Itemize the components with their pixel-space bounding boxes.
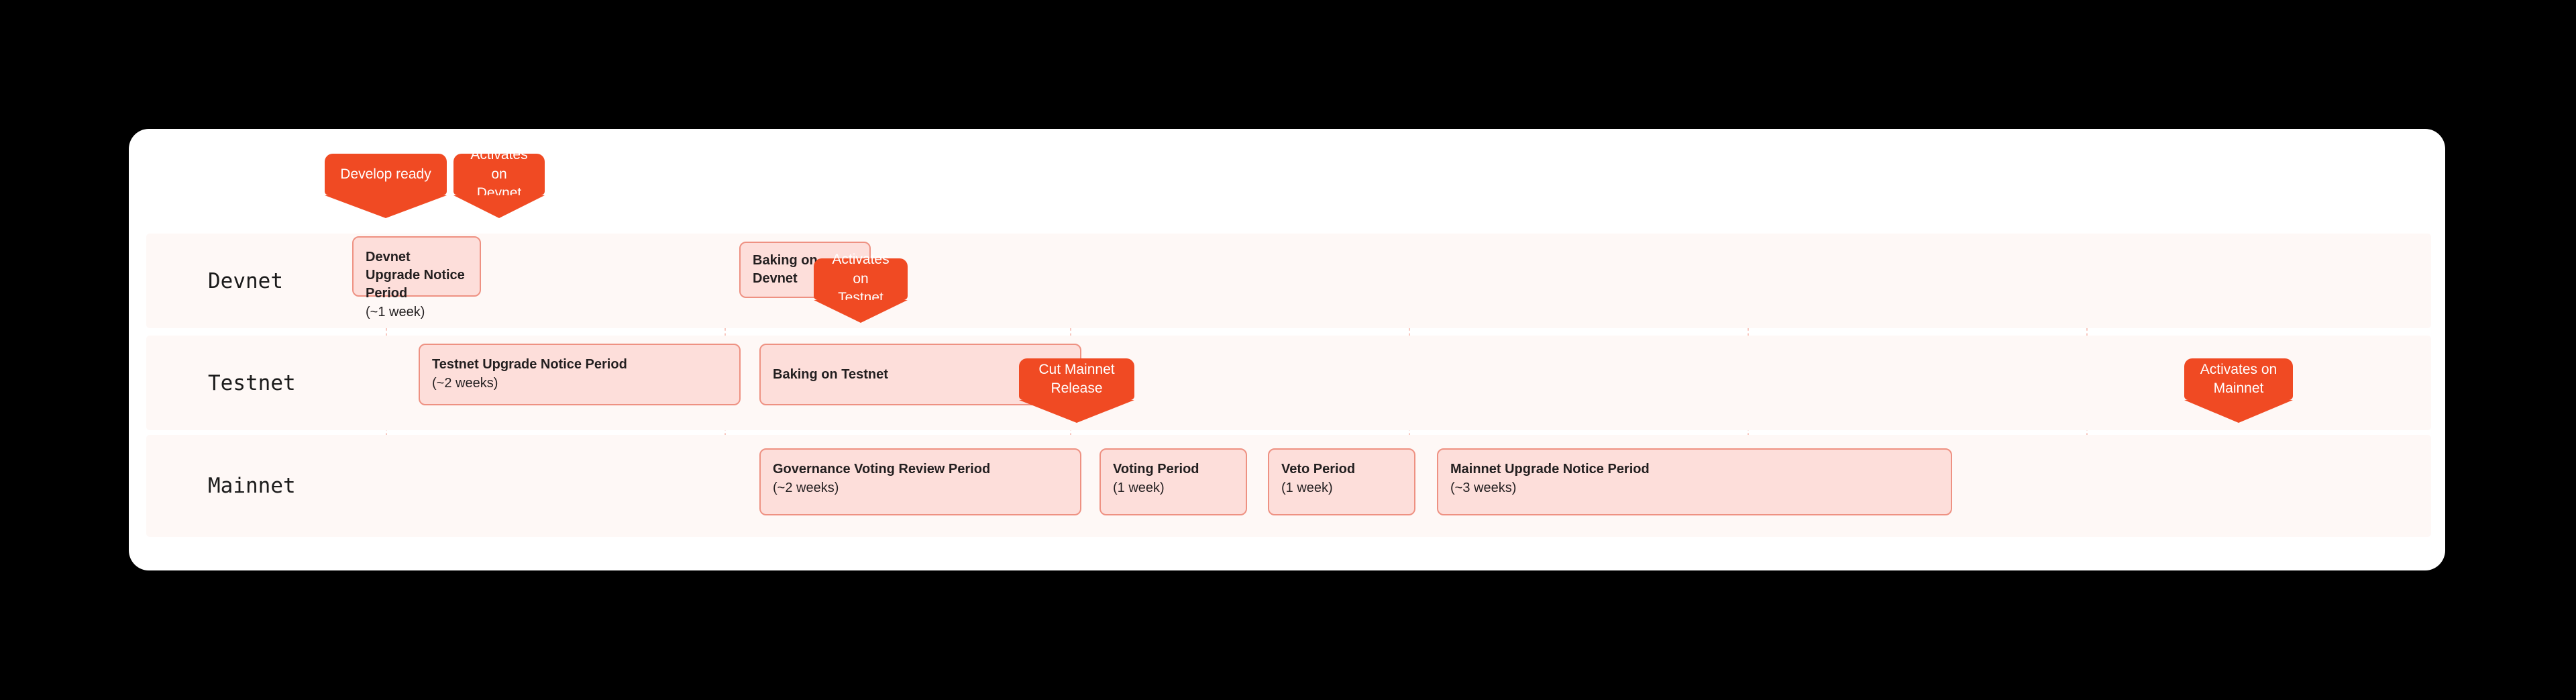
period-bar-testnet-upgrade-notice[interactable]: Testnet Upgrade Notice Period (~2 weeks) bbox=[419, 344, 741, 405]
period-duration: (~2 weeks) bbox=[773, 479, 1068, 497]
period-title: Governance Voting Review Period bbox=[773, 460, 1068, 479]
milestone-marker-develop-ready[interactable]: Develop ready bbox=[325, 154, 447, 195]
period-title: Veto Period bbox=[1281, 460, 1402, 479]
row-label-testnet: Testnet bbox=[208, 371, 296, 395]
diagram-canvas: Devnet Testnet Mainnet Devnet Upgrade No… bbox=[0, 0, 2576, 700]
marker-pointer-icon bbox=[325, 195, 447, 218]
period-bar-voting-period[interactable]: Voting Period (1 week) bbox=[1099, 448, 1247, 515]
milestone-label: Cut Mainnet Release bbox=[1038, 360, 1114, 399]
milestone-label: Activates on Testnet bbox=[824, 250, 897, 307]
marker-pointer-icon bbox=[453, 195, 545, 218]
period-bar-mainnet-upgrade-notice[interactable]: Mainnet Upgrade Notice Period (~3 weeks) bbox=[1437, 448, 1952, 515]
milestone-marker-cut-mainnet-release[interactable]: Cut Mainnet Release bbox=[1019, 358, 1134, 400]
row-label-devnet: Devnet bbox=[208, 269, 283, 293]
milestone-label: Activates on Mainnet bbox=[2200, 360, 2277, 399]
milestone-label: Develop ready bbox=[340, 165, 431, 184]
row-label-mainnet: Mainnet bbox=[208, 474, 296, 498]
period-title: Mainnet Upgrade Notice Period bbox=[1450, 460, 1939, 479]
period-bar-governance-voting-review[interactable]: Governance Voting Review Period (~2 week… bbox=[759, 448, 1081, 515]
timeline-row-devnet: Devnet bbox=[146, 234, 2431, 328]
milestone-label: Activates on Devnet bbox=[464, 146, 534, 203]
period-duration: (1 week) bbox=[1113, 479, 1234, 497]
period-title: Devnet Upgrade Notice Period bbox=[366, 248, 468, 303]
period-title: Voting Period bbox=[1113, 460, 1234, 479]
milestone-marker-activates-on-testnet[interactable]: Activates on Testnet bbox=[814, 258, 908, 300]
timeline-plot: Devnet Testnet Mainnet Devnet Upgrade No… bbox=[129, 129, 2445, 570]
period-duration: (~1 week) bbox=[366, 303, 468, 321]
period-bar-veto-period[interactable]: Veto Period (1 week) bbox=[1268, 448, 1415, 515]
period-bar-devnet-upgrade-notice[interactable]: Devnet Upgrade Notice Period (~1 week) bbox=[352, 236, 481, 297]
period-title: Baking on Testnet bbox=[773, 366, 888, 384]
milestone-marker-activates-on-devnet[interactable]: Activates on Devnet bbox=[453, 154, 545, 195]
milestone-marker-activates-on-mainnet[interactable]: Activates on Mainnet bbox=[2184, 358, 2293, 400]
period-duration: (~3 weeks) bbox=[1450, 479, 1939, 497]
period-duration: (~2 weeks) bbox=[432, 374, 727, 393]
period-title: Testnet Upgrade Notice Period bbox=[432, 356, 727, 374]
timeline-card: Devnet Testnet Mainnet Devnet Upgrade No… bbox=[129, 129, 2445, 570]
period-duration: (1 week) bbox=[1281, 479, 1402, 497]
